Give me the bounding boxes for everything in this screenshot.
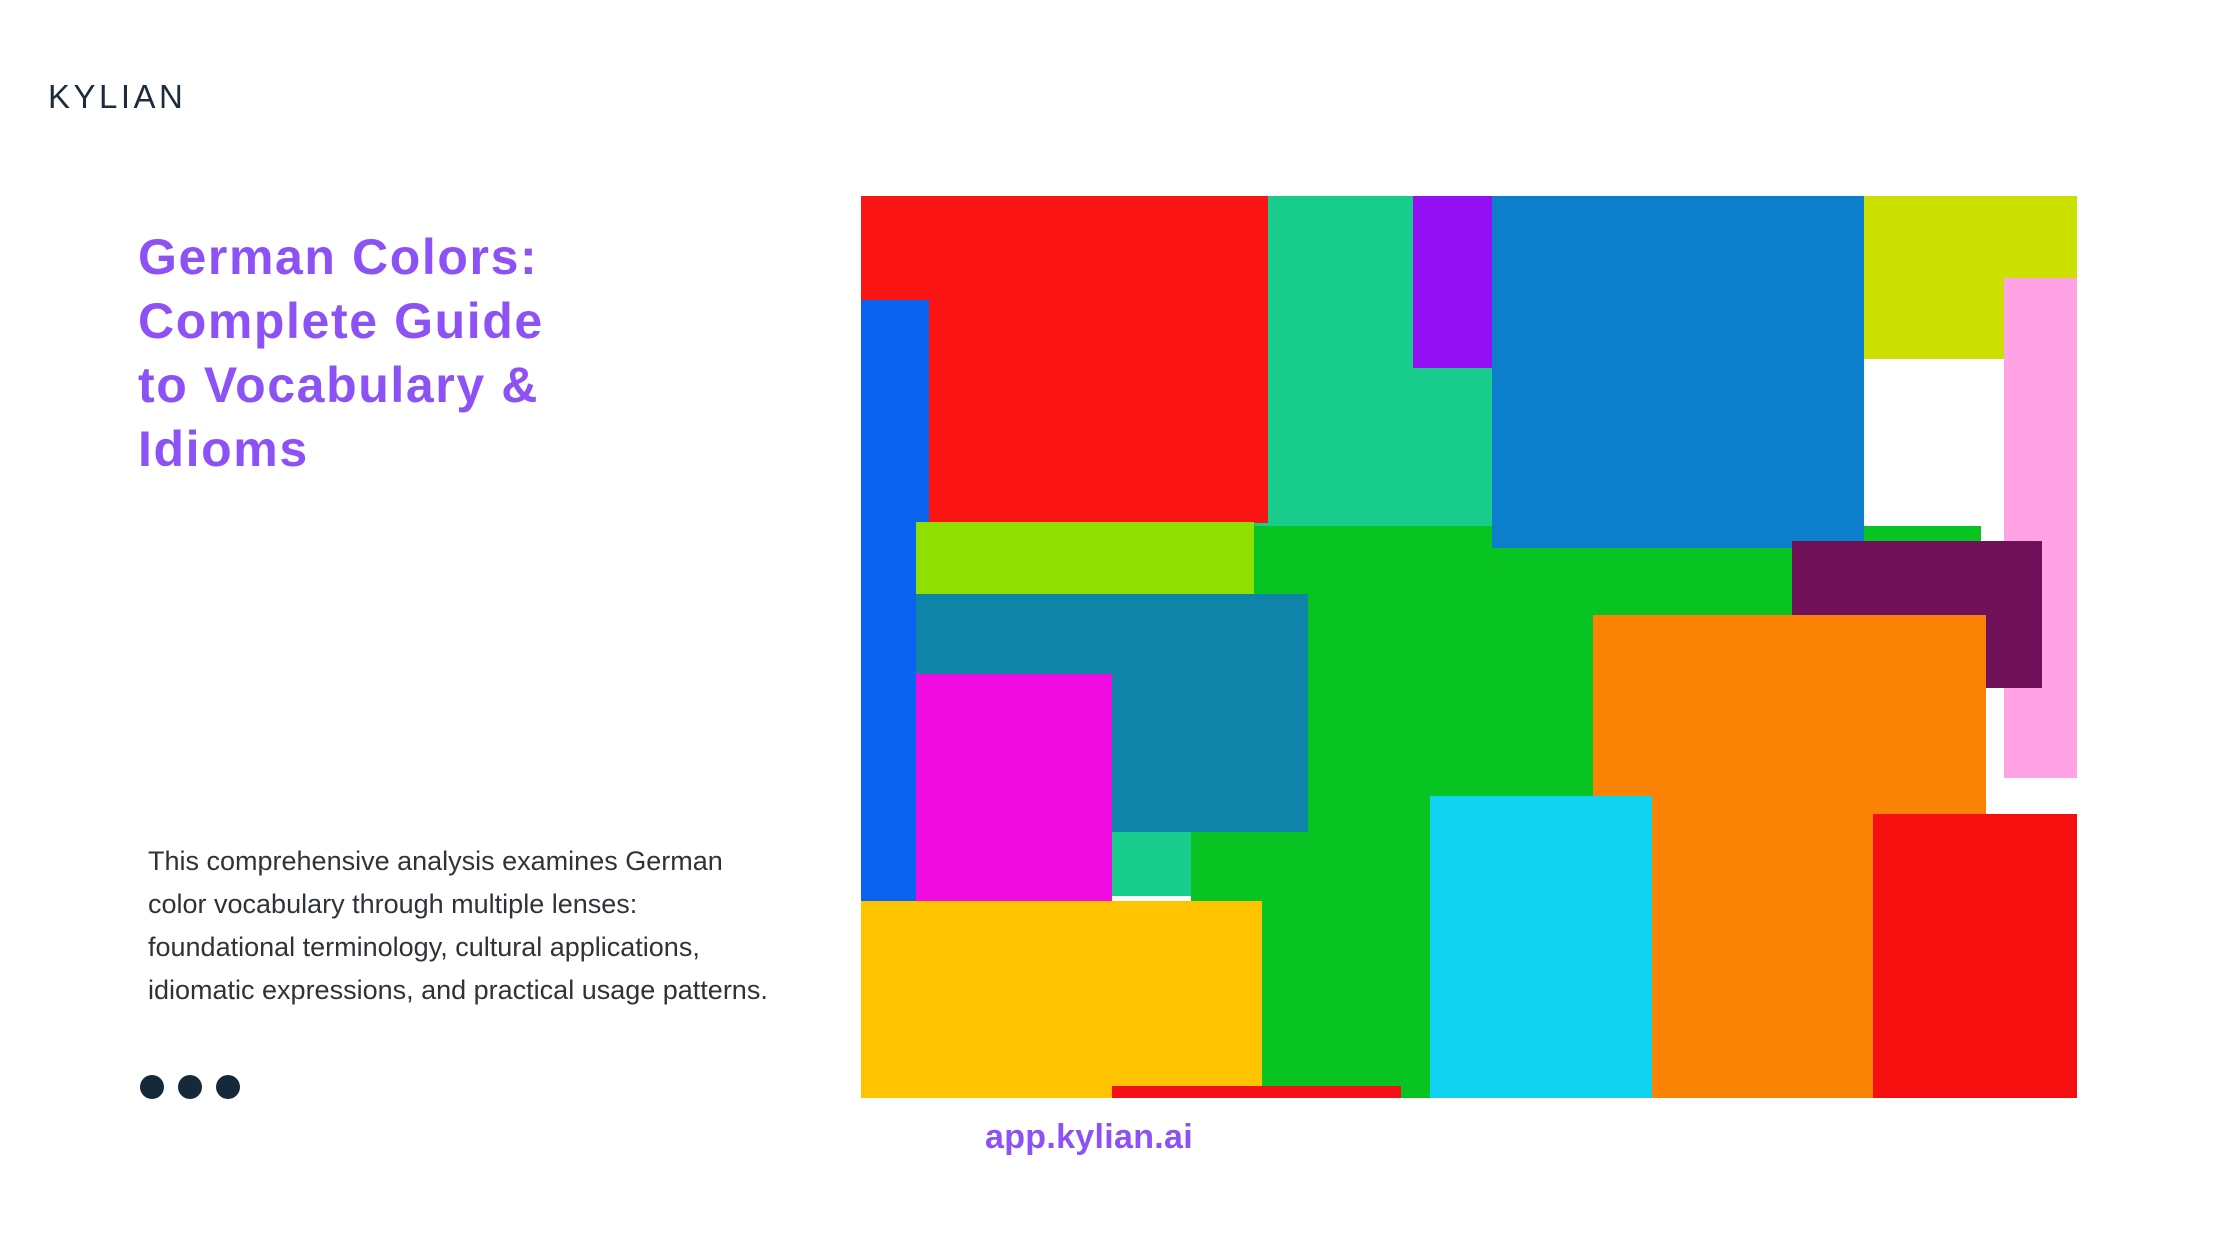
hero-block-yellow-bottom-left: [861, 901, 1262, 1098]
hero-block-cyan-bottom-mid: [1430, 796, 1652, 1098]
description-paragraph: This comprehensive analysis examines Ger…: [148, 840, 788, 1012]
hero-block-pink-right-column: [2004, 278, 2077, 778]
dot-indicator-1: [140, 1075, 164, 1099]
footer-url: app.kylian.ai: [985, 1118, 1193, 1157]
brand-logo: KYLIAN: [48, 78, 186, 116]
hero-block-red-bottom-right: [1873, 814, 2077, 1098]
slide-canvas: KYLIAN German Colors: Complete Guide to …: [0, 0, 2240, 1260]
hero-block-blue-top-right: [1492, 196, 1864, 548]
left-text-column: German Colors: Complete Guide to Vocabul…: [138, 225, 778, 481]
page-title: German Colors: Complete Guide to Vocabul…: [138, 225, 778, 481]
dot-indicator-3: [216, 1075, 240, 1099]
hero-color-blocks-image: [861, 196, 2077, 1098]
dot-indicator-2: [178, 1075, 202, 1099]
pagination-dots: [140, 1075, 240, 1099]
hero-block-red-bottom-mid: [1112, 1086, 1401, 1098]
